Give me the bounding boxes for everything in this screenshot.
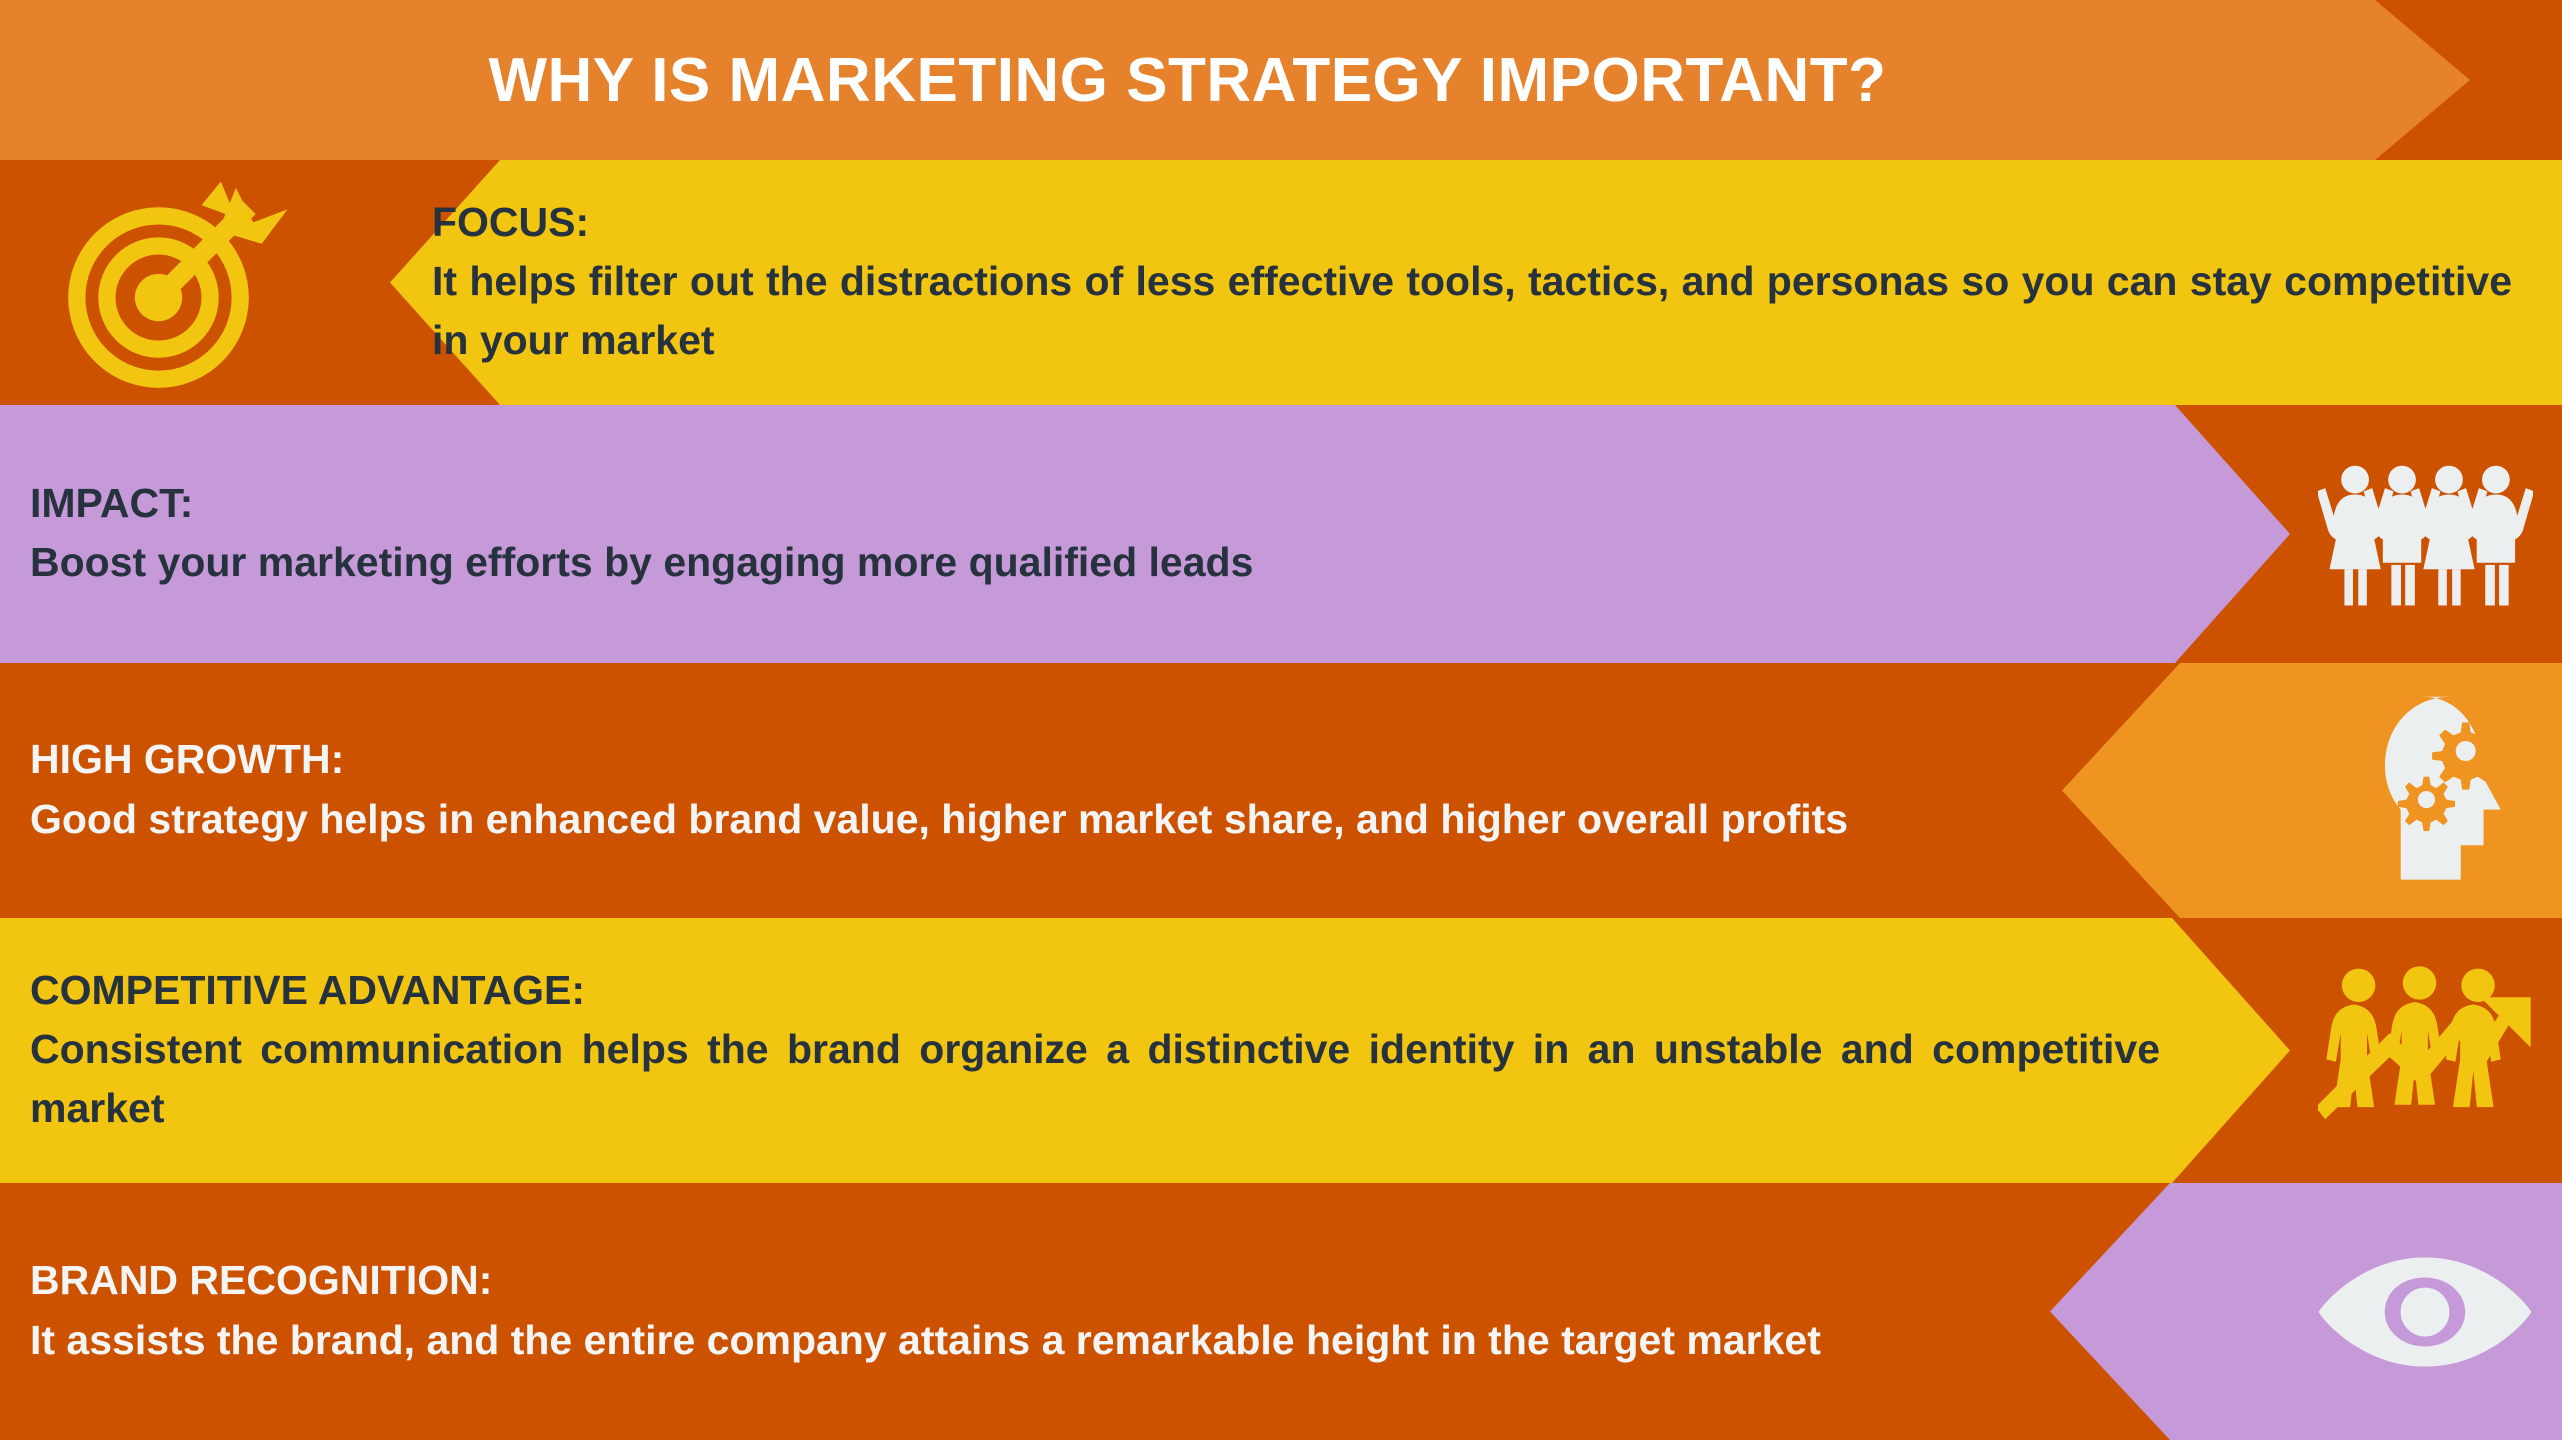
eye-icon [2300, 1183, 2550, 1440]
target-dart-icon [10, 160, 350, 405]
row-growth-body: Good strategy helps in enhanced brand va… [30, 790, 2050, 848]
row-focus-body: It helps filter out the distractions of … [432, 252, 2512, 368]
infographic-root: WHY IS MARKETING STRATEGY IMPORTANT? FOC… [0, 0, 2562, 1440]
row-growth-heading: HIGH GROWTH: [30, 733, 2050, 786]
row-impact-heading: IMPACT: [30, 477, 2130, 530]
row-focus-text: FOCUS: It helps filter out the distracti… [432, 160, 2512, 405]
row-brand-body: It assists the brand, and the entire com… [30, 1311, 2030, 1369]
row-compete-body: Consistent communication helps the brand… [30, 1020, 2160, 1136]
people-growth-chart-icon [2300, 918, 2550, 1183]
people-cheering-icon [2300, 405, 2550, 663]
row-focus: FOCUS: It helps filter out the distracti… [0, 160, 2562, 405]
title-band: WHY IS MARKETING STRATEGY IMPORTANT? [0, 0, 2562, 160]
row-impact-text: IMPACT: Boost your marketing efforts by … [30, 405, 2130, 663]
row-brand-text: BRAND RECOGNITION: It assists the brand,… [30, 1183, 2030, 1440]
row-growth: HIGH GROWTH: Good strategy helps in enha… [0, 663, 2562, 918]
row-impact: IMPACT: Boost your marketing efforts by … [0, 405, 2562, 663]
head-with-gears-icon [2360, 663, 2550, 918]
row-compete-heading: COMPETITIVE ADVANTAGE: [30, 964, 2160, 1017]
row-compete: COMPETITIVE ADVANTAGE: Consistent commun… [0, 918, 2562, 1183]
page-title: WHY IS MARKETING STRATEGY IMPORTANT? [0, 0, 2375, 160]
row-brand-heading: BRAND RECOGNITION: [30, 1254, 2030, 1307]
row-focus-heading: FOCUS: [432, 196, 2512, 249]
row-brand: BRAND RECOGNITION: It assists the brand,… [0, 1183, 2562, 1440]
row-growth-text: HIGH GROWTH: Good strategy helps in enha… [30, 663, 2050, 918]
row-impact-body: Boost your marketing efforts by engaging… [30, 533, 2130, 591]
row-compete-text: COMPETITIVE ADVANTAGE: Consistent commun… [30, 918, 2160, 1183]
